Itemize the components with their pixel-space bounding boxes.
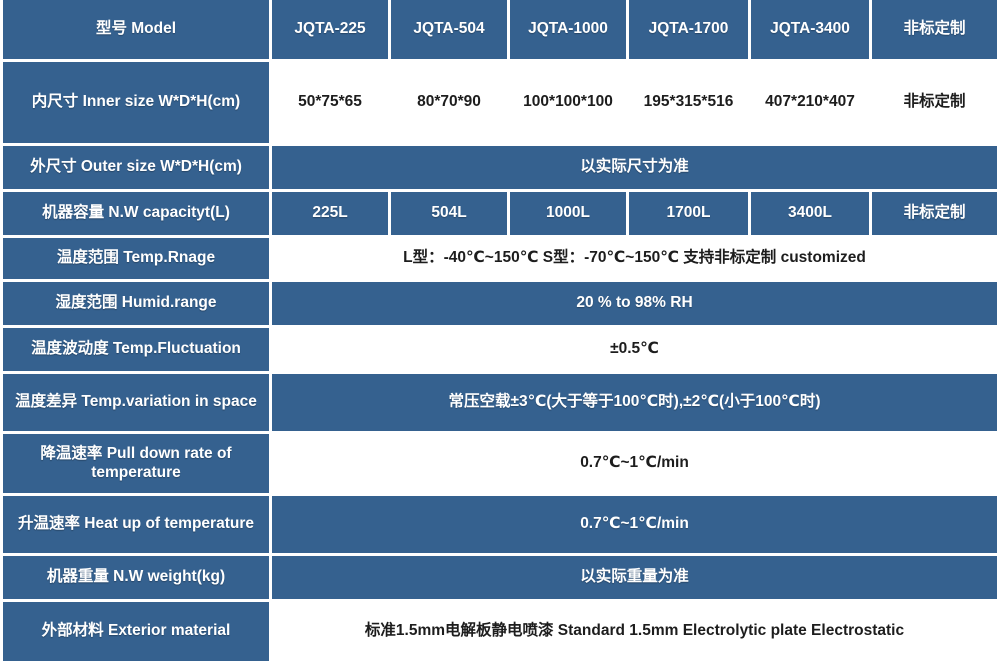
cell-temp-variation-value: 常压空载±3℃(大于等于100℃时),±2℃(小于100℃时)	[272, 374, 1000, 434]
cell-inner-size-225: 50*75*65	[272, 62, 391, 146]
table-row-humidity: 湿度范围 Humid.range 20 % to 98% RH	[0, 282, 1000, 328]
column-header-jqta-3400: JQTA-3400	[751, 0, 872, 62]
row-header-capacity: 机器容量 N.W capacityt(L)	[0, 192, 272, 238]
cell-heat-up-rate-value: 0.7℃~1℃/min	[272, 496, 1000, 556]
column-header-jqta-504: JQTA-504	[391, 0, 510, 62]
cell-inner-size-504: 80*70*90	[391, 62, 510, 146]
cell-outer-size-value: 以实际尺寸为准	[272, 146, 1000, 192]
cell-weight-value: 以实际重量为准	[272, 556, 1000, 602]
table-row-temp-fluctuation: 温度波动度 Temp.Fluctuation ±0.5℃	[0, 328, 1000, 374]
cell-capacity-504: 504L	[391, 192, 510, 238]
cell-temp-fluctuation-value: ±0.5℃	[272, 328, 1000, 374]
row-header-outer-size: 外尺寸 Outer size W*D*H(cm)	[0, 146, 272, 192]
table-row-heat-up-rate: 升温速率 Heat up of temperature 0.7℃~1℃/min	[0, 496, 1000, 556]
row-header-model: 型号 Model	[0, 0, 272, 62]
table-row-outer-size: 外尺寸 Outer size W*D*H(cm) 以实际尺寸为准	[0, 146, 1000, 192]
cell-inner-size-1000: 100*100*100	[510, 62, 629, 146]
table-row-capacity: 机器容量 N.W capacityt(L) 225L 504L 1000L 17…	[0, 192, 1000, 238]
cell-exterior-material-value: 标准1.5mm电解板静电喷漆 Standard 1.5mm Electrolyt…	[272, 602, 1000, 664]
cell-humidity-value: 20 % to 98% RH	[272, 282, 1000, 328]
cell-capacity-225: 225L	[272, 192, 391, 238]
table-row-inner-size: 内尺寸 Inner size W*D*H(cm) 50*75*65 80*70*…	[0, 62, 1000, 146]
cell-temp-range-value: L型：-40℃~150℃ S型：-70℃~150℃ 支持非标定制 customi…	[272, 238, 1000, 282]
column-header-jqta-1000: JQTA-1000	[510, 0, 629, 62]
table-row-pull-down-rate: 降温速率 Pull down rate of temperature 0.7℃~…	[0, 434, 1000, 496]
cell-capacity-custom: 非标定制	[872, 192, 1000, 238]
table-row-weight: 机器重量 N.W weight(kg) 以实际重量为准	[0, 556, 1000, 602]
specification-table: 型号 Model JQTA-225 JQTA-504 JQTA-1000 JQT…	[0, 0, 1000, 664]
table-row-temp-variation: 温度差异 Temp.variation in space 常压空载±3℃(大于等…	[0, 374, 1000, 434]
row-header-inner-size: 内尺寸 Inner size W*D*H(cm)	[0, 62, 272, 146]
column-header-jqta-1700: JQTA-1700	[629, 0, 751, 62]
table-row-model: 型号 Model JQTA-225 JQTA-504 JQTA-1000 JQT…	[0, 0, 1000, 62]
row-header-heat-up-rate: 升温速率 Heat up of temperature	[0, 496, 272, 556]
row-header-temp-range: 温度范围 Temp.Rnage	[0, 238, 272, 282]
cell-capacity-3400: 3400L	[751, 192, 872, 238]
cell-capacity-1000: 1000L	[510, 192, 629, 238]
cell-inner-size-3400: 407*210*407	[751, 62, 872, 146]
row-header-pull-down-rate: 降温速率 Pull down rate of temperature	[0, 434, 272, 496]
row-header-humidity: 湿度范围 Humid.range	[0, 282, 272, 328]
cell-capacity-1700: 1700L	[629, 192, 751, 238]
table-row-exterior-material: 外部材料 Exterior material 标准1.5mm电解板静电喷漆 St…	[0, 602, 1000, 664]
cell-inner-size-custom: 非标定制	[872, 62, 1000, 146]
column-header-custom: 非标定制	[872, 0, 1000, 62]
row-header-temp-variation: 温度差异 Temp.variation in space	[0, 374, 272, 434]
table-row-temp-range: 温度范围 Temp.Rnage L型：-40℃~150℃ S型：-70℃~150…	[0, 238, 1000, 282]
row-header-temp-fluctuation: 温度波动度 Temp.Fluctuation	[0, 328, 272, 374]
column-header-jqta-225: JQTA-225	[272, 0, 391, 62]
cell-pull-down-rate-value: 0.7℃~1℃/min	[272, 434, 1000, 496]
row-header-exterior-material: 外部材料 Exterior material	[0, 602, 272, 664]
cell-inner-size-1700: 195*315*516	[629, 62, 751, 146]
row-header-weight: 机器重量 N.W weight(kg)	[0, 556, 272, 602]
